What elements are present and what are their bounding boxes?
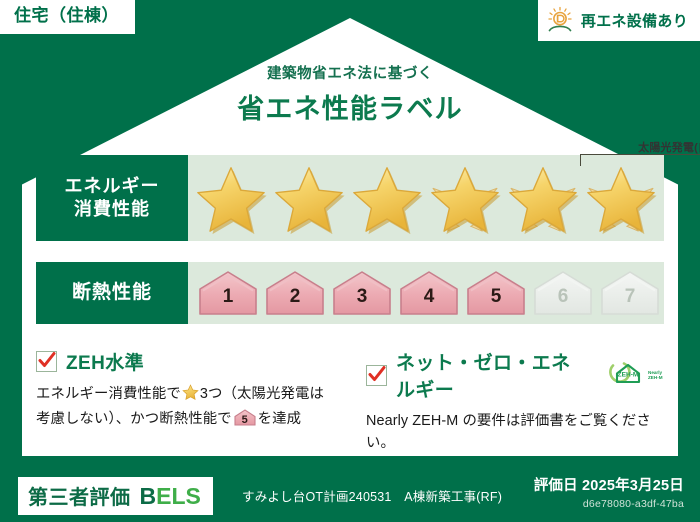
star-4	[426, 155, 504, 241]
solar-annotation-bracket	[580, 154, 700, 166]
dwelling-type-label: 住宅（住棟）	[14, 6, 119, 25]
solar-sun-icon	[546, 6, 574, 34]
criteria-net-zero-energy: ネット・ゼロ・エネルギー ZEH-M Nearly ZEH-M Nearly Z…	[348, 348, 678, 456]
insulation-level-number: 1	[198, 286, 258, 308]
insulation-badges-area: 1 2 3 4 5	[188, 262, 664, 324]
energy-performance-row: エネルギー 消費性能 太陽光発電(自家消費)分	[36, 155, 664, 241]
insulation-level-3: 3	[332, 269, 392, 317]
star-5	[504, 155, 582, 241]
svg-text:ZEH-M: ZEH-M	[618, 371, 639, 378]
insulation-level-number: 3	[332, 286, 392, 308]
insulation-performance-row: 断熱性能 1 2 3 4	[36, 262, 664, 324]
star-6	[582, 155, 660, 241]
svg-text:ZEH-M: ZEH-M	[648, 375, 663, 380]
net-zero-header: ネット・ゼロ・エネルギー ZEH-M Nearly ZEH-M	[366, 348, 666, 402]
renewable-badge-label: 再エネ設備あり	[581, 10, 688, 31]
evaluation-date: 評価日 2025年3月25日	[534, 474, 684, 495]
renewable-equipment-badge: 再エネ設備あり	[538, 0, 700, 41]
insulation-level-number: 2	[265, 286, 325, 308]
star-rating-group	[188, 155, 664, 241]
label-footer: 第三者評価 BELS すみよし台OT計画240531 A棟新築工事(RF) 評価…	[0, 466, 700, 522]
evaluation-id: d6e78080-a3df-47ba	[534, 498, 684, 510]
zeh-desc-part-c: を達成	[258, 411, 301, 427]
building-name: すみよし台OT計画240531 A棟新築工事(RF)	[242, 486, 502, 505]
insulation-level-4: 4	[399, 269, 459, 317]
energy-performance-row-label: エネルギー 消費性能	[36, 155, 188, 241]
insulation-level-2: 2	[265, 269, 325, 317]
inline-insulation-badge: 5	[234, 409, 256, 426]
net-zero-checkbox[interactable]	[366, 365, 387, 386]
zeh-standard-description: エネルギー消費性能で3つ（太陽光発電は考慮しない）、かつ断熱性能で5を達成	[36, 383, 336, 431]
energy-performance-label: 住宅（住棟） 再エネ設備あり 建築	[0, 0, 700, 522]
insulation-level-6: 6	[533, 269, 593, 317]
zeh-standard-header: ZEH水準	[36, 348, 336, 375]
insulation-level-number: 6	[533, 286, 593, 308]
label-title-block: 建築物省エネ法に基づく 省エネ性能ラベル	[0, 62, 700, 126]
insulation-level-number: 5	[466, 286, 526, 308]
insulation-row-label: 断熱性能	[36, 262, 188, 324]
bels-japanese-text: 第三者評価	[28, 481, 131, 510]
net-zero-title: ネット・ゼロ・エネルギー	[396, 348, 588, 402]
bels-logo-box: 第三者評価 BELS	[18, 477, 213, 515]
criteria-zeh-standard: ZEH水準 エネルギー消費性能で3つ（太陽光発電は考慮しない）、かつ断熱性能で5…	[22, 348, 348, 456]
zeh-m-logo: ZEH-M Nearly ZEH-M	[604, 359, 666, 392]
zeh-standard-checkbox[interactable]	[36, 351, 57, 372]
bels-letters-els: ELS	[156, 483, 201, 509]
title-subtitle: 建築物省エネ法に基づく	[0, 62, 700, 83]
star-3	[348, 155, 426, 241]
insulation-level-number: 7	[600, 286, 660, 308]
insulation-level-number: 4	[399, 286, 459, 308]
zeh-desc-part-a: エネルギー消費性能で	[36, 386, 181, 402]
title-main: 省エネ性能ラベル	[0, 87, 700, 126]
bels-wordmark: BELS	[140, 483, 201, 510]
energy-label-line1: エネルギー	[65, 175, 160, 198]
dwelling-type-tag: 住宅（住棟）	[0, 0, 135, 34]
inline-badge-number: 5	[234, 412, 256, 429]
net-zero-description: Nearly ZEH-M の要件は評価書をご覧ください。	[366, 410, 666, 455]
bels-letter-b: B	[140, 483, 157, 509]
solar-annotation-label: 太陽光発電(自家消費)分	[580, 139, 700, 155]
evaluation-info: 評価日 2025年3月25日 d6e78080-a3df-47ba	[534, 474, 684, 510]
star-1	[192, 155, 270, 241]
criteria-section: ZEH水準 エネルギー消費性能で3つ（太陽光発電は考慮しない）、かつ断熱性能で5…	[22, 348, 678, 456]
star-2	[270, 155, 348, 241]
inline-star-icon	[182, 389, 199, 405]
insulation-label-text: 断熱性能	[72, 281, 152, 306]
insulation-level-1: 1	[198, 269, 258, 317]
insulation-level-5: 5	[466, 269, 526, 317]
energy-label-line2: 消費性能	[74, 198, 150, 221]
insulation-level-7: 7	[600, 269, 660, 317]
insulation-level-group: 1 2 3 4 5	[188, 262, 664, 324]
energy-stars-area: 太陽光発電(自家消費)分	[188, 155, 664, 241]
zeh-standard-title: ZEH水準	[66, 348, 144, 375]
